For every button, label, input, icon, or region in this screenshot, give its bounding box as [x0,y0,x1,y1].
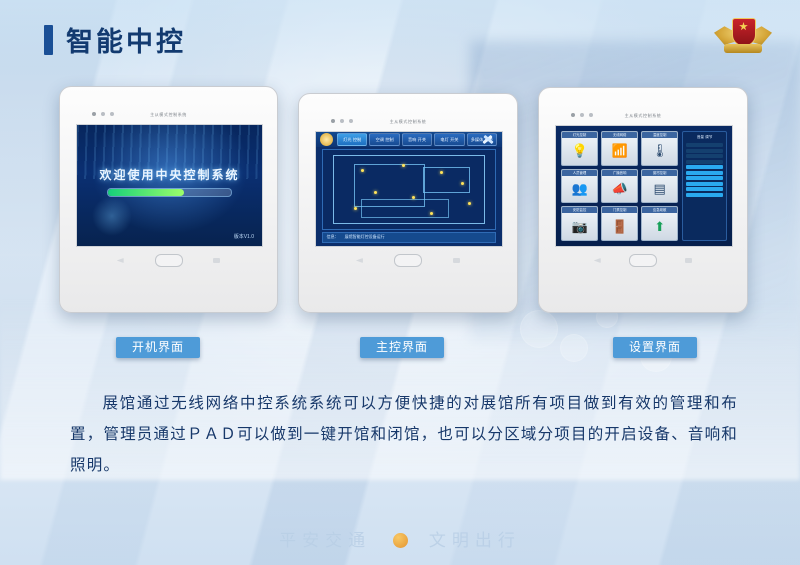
body-paragraph: 展馆通过无线网络中控系统系统可以方便快捷的对展馆所有项目做到有效的管理和布置，管… [70,388,738,481]
title-accent-bar [44,25,53,55]
title-text: 智能中控 [66,20,186,59]
police-emblem-icon [714,10,772,62]
nav-item-2[interactable]: 音响 开关 [402,133,432,146]
footer-left-text: 平安交通 [279,531,371,551]
volume-step[interactable] [686,154,723,158]
volume-step[interactable] [686,193,723,197]
menu-key-icon[interactable] [453,258,460,263]
volume-step[interactable] [686,143,723,147]
home-button[interactable] [155,254,183,267]
tablet-boot: 主从模式控制系统 欢迎使用中央控制系统 版本V1.0 [59,86,278,313]
volume-panel-title: 音量 调节 [686,135,723,140]
volume-step[interactable] [686,187,723,191]
body-paragraph-text: 展馆通过无线网络中控系统系统可以方便快捷的对展馆所有项目做到有效的管理和布置，管… [70,394,738,474]
settings-tile-camera[interactable]: 安防监控 📷 [561,206,598,241]
settings-tile-exit[interactable]: 应急疏散 ⬆ [641,206,678,241]
camera-icon [92,112,96,116]
caption-main: 主控界面 [360,337,444,358]
device-marker[interactable] [440,171,443,174]
camera-icon [331,119,335,123]
splash-glow [92,196,132,236]
volume-step[interactable] [686,182,723,186]
caption-boot: 开机界面 [116,337,200,358]
floor-plan[interactable] [322,149,497,230]
nav-item-3[interactable]: 电灯 开关 [434,133,464,146]
boot-progress-bar [107,188,233,197]
main-nav-bar: 灯光 控制 空调 控制 音响 开关 电灯 开关 多媒体 开关 [316,132,502,147]
device-marker[interactable] [461,182,464,185]
device-marker[interactable] [430,212,433,215]
slide: 智能中控 主从模式控制系统 欢迎使用中央控制系统 版本V1.0 [0,0,800,565]
tablet-brand-label: 主从模式控制系统 [150,112,187,118]
tablet-screen-settings[interactable]: 灯光控制 💡 无线网络 📶 温度控制 🌡 人员管理 👥 [555,125,733,247]
settings-grid: 灯光控制 💡 无线网络 📶 温度控制 🌡 人员管理 👥 [561,131,678,241]
app-logo-icon [320,133,333,146]
settings-tile-wifi[interactable]: 无线网络 📶 [601,131,638,166]
exit-icon: ⬆ [642,213,677,240]
home-button[interactable] [394,254,422,267]
header-bar: 智能中控 [0,0,800,72]
settings-tile-curtain[interactable]: 窗帘控制 ▤ [641,169,678,204]
sensor-icon-2 [110,112,114,116]
tablet-bezel-top-2: 主从模式控制系统 [315,116,501,127]
tablet-bezel-bottom-2 [315,247,501,273]
wrench-icon[interactable] [482,134,493,145]
sensor-icon-2 [589,113,593,117]
curtain-icon: ▤ [642,176,677,203]
status-text: 展馆智能灯控设备运行 [345,234,385,240]
sensor-icon [340,119,344,123]
home-button[interactable] [629,254,657,267]
tablet-brand-label: 主从模式控制系统 [625,113,662,119]
splash-welcome-text: 欢迎使用中央控制系统 [77,166,262,183]
tablet-settings: 主从模式控制系统 灯光控制 💡 无线网络 📶 温度控制 🌡 [538,87,748,313]
menu-key-icon[interactable] [213,258,220,263]
settings-tile-people[interactable]: 人员管理 👥 [561,169,598,204]
tablet-bezel-top-3: 主从模式控制系统 [555,110,731,121]
volume-panel[interactable]: 音量 调节 [682,131,727,241]
tablet-bezel-bottom-3 [555,247,731,273]
menu-key-icon[interactable] [685,258,692,263]
caption-settings: 设置界面 [613,337,697,358]
version-label: 版本V1.0 [234,233,254,240]
back-key-icon[interactable] [594,258,601,263]
volume-step[interactable] [686,165,723,169]
door-icon: 🚪 [602,213,637,240]
camera-icon: 📷 [562,213,597,240]
settings-tile-megaphone[interactable]: 广播音响 📣 [601,169,638,204]
sensor-icon [580,113,584,117]
camera-icon [571,113,575,117]
tablet-main: 主从模式控制系统 灯光 控制 空调 控制 音响 开关 电灯 开关 多媒体 开关 [298,93,518,313]
footer-right-text: 文明出行 [429,531,521,551]
nav-item-1[interactable]: 空调 控制 [369,133,399,146]
status-label: 信息： [327,234,339,240]
settings-tile-thermometer[interactable]: 温度控制 🌡 [641,131,678,166]
settings-tile-door[interactable]: 门禁控制 🚪 [601,206,638,241]
status-bar: 信息： 展馆智能灯控设备运行 [322,232,497,242]
thermometer-icon: 🌡 [642,138,677,165]
page-title: 智能中控 [44,20,186,59]
wifi-icon: 📶 [602,138,637,165]
bulb-icon: 💡 [562,138,597,165]
sensor-icon-2 [349,119,353,123]
volume-step[interactable] [686,176,723,180]
settings-tile-bulb[interactable]: 灯光控制 💡 [561,131,598,166]
device-marker[interactable] [468,202,471,205]
megaphone-icon: 📣 [602,176,637,203]
volume-step[interactable] [686,160,723,164]
tablet-screen-main[interactable]: 灯光 控制 空调 控制 音响 开关 电灯 开关 多媒体 开关 [315,131,503,247]
tablet-bezel-bottom [76,247,261,273]
volume-step[interactable] [686,149,723,153]
tablet-brand-label: 主从模式控制系统 [390,119,427,125]
back-key-icon[interactable] [356,258,363,263]
device-marker[interactable] [354,207,357,210]
nav-item-0[interactable]: 灯光 控制 [337,133,367,146]
footer: 平安交通 文明出行 [0,526,800,551]
tablet-screen-boot[interactable]: 欢迎使用中央控制系统 版本V1.0 [76,124,263,247]
tablet-bezel-top: 主从模式控制系统 [76,109,261,120]
back-key-icon[interactable] [117,258,124,263]
footer-dot-icon [393,533,408,548]
sensor-icon [101,112,105,116]
people-icon: 👥 [562,176,597,203]
volume-step[interactable] [686,171,723,175]
device-marker[interactable] [361,169,364,172]
